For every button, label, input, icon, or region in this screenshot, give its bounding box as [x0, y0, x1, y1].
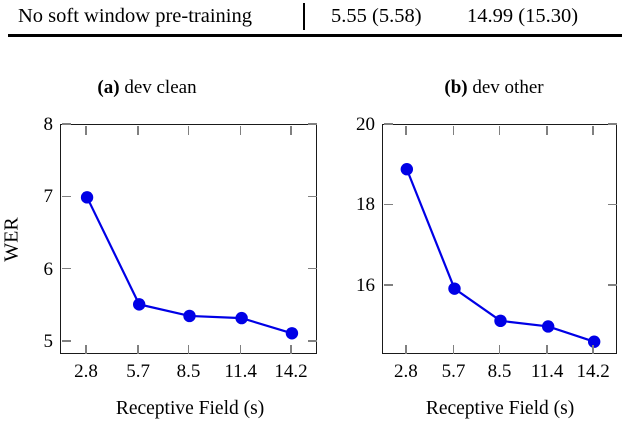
- subfigure-a-tag: (a): [97, 77, 119, 98]
- y-tick-mark-right: [308, 123, 317, 124]
- data-point-marker: [286, 327, 298, 339]
- subfigure-a-caption-text: dev clean: [120, 77, 197, 98]
- x-tick-mark: [499, 345, 500, 354]
- data-point-marker: [448, 282, 460, 294]
- y-tick-mark-right: [608, 284, 617, 285]
- table-cell-method: No soft window pre-training: [18, 2, 252, 30]
- y-tick-mark-right: [608, 123, 617, 124]
- table-cell-dev-other: 14.99 (15.30): [467, 2, 578, 30]
- data-point-marker: [133, 298, 145, 310]
- plot-area-dev-other: [382, 124, 617, 354]
- x-tick-mark: [137, 345, 138, 354]
- y-tick-label: 20: [320, 115, 375, 134]
- subfigure-dev-clean: (a) dev clean 5678 2.85.78.511.414.2 Rec…: [0, 60, 330, 422]
- x-tick-mark: [453, 345, 454, 354]
- subfigure-a-caption: (a) dev clean: [0, 77, 312, 99]
- x-axis-title-dev-other: Receptive Field (s): [330, 398, 630, 420]
- x-tick-mark-top: [592, 126, 593, 135]
- y-tick-mark: [62, 123, 71, 124]
- x-axis-title-dev-clean: Receptive Field (s): [0, 398, 380, 420]
- data-point-marker: [542, 320, 554, 332]
- y-tick-mark-right: [308, 268, 317, 269]
- subfigure-dev-other: (b) dev other 161820 2.85.78.511.414.2 R…: [330, 60, 630, 422]
- x-tick-label: 2.8: [58, 362, 114, 381]
- subfigure-b-caption: (b) dev other: [344, 77, 630, 99]
- x-tick-mark-top: [290, 126, 291, 135]
- y-tick-label: 5: [0, 332, 53, 351]
- y-tick-label: 7: [0, 187, 53, 206]
- subfigure-b-tag: (b): [444, 77, 467, 98]
- data-point-marker: [183, 310, 195, 322]
- x-tick-mark-top: [85, 126, 86, 135]
- x-tick-mark: [405, 345, 406, 354]
- x-tick-mark-top: [240, 126, 241, 135]
- y-axis-title-dev-clean: WER: [1, 210, 24, 270]
- x-tick-mark-top: [499, 126, 500, 135]
- x-tick-mark-top: [453, 126, 454, 135]
- table-fragment: No soft window pre-training 5.55 (5.58) …: [0, 0, 630, 40]
- x-tick-label: 14.2: [565, 362, 621, 381]
- y-tick-label: 8: [0, 115, 53, 134]
- data-point-marker: [588, 336, 600, 348]
- x-tick-mark: [592, 345, 593, 354]
- y-tick-mark: [384, 123, 393, 124]
- figure-area: (a) dev clean 5678 2.85.78.511.414.2 Rec…: [0, 60, 630, 422]
- x-tick-label: 5.7: [110, 362, 166, 381]
- plot-area-dev-clean: [60, 124, 317, 354]
- x-tick-mark: [546, 345, 547, 354]
- table-bottom-rule: [8, 34, 622, 37]
- y-tick-mark: [62, 268, 71, 269]
- x-tick-label: 8.5: [161, 362, 217, 381]
- table-column-divider: [303, 3, 305, 30]
- data-series-dev-clean: [61, 125, 318, 355]
- y-tick-mark-right: [308, 340, 317, 341]
- x-tick-mark-top: [546, 126, 547, 135]
- y-tick-mark: [384, 204, 393, 205]
- y-tick-mark: [384, 284, 393, 285]
- data-point-marker: [81, 191, 93, 203]
- x-tick-mark: [240, 345, 241, 354]
- data-series-dev-other: [383, 125, 618, 355]
- y-tick-mark-right: [608, 204, 617, 205]
- y-tick-mark-right: [308, 196, 317, 197]
- x-tick-mark-top: [137, 126, 138, 135]
- x-tick-mark-top: [405, 126, 406, 135]
- table-row: No soft window pre-training 5.55 (5.58) …: [0, 0, 630, 32]
- table-cell-dev-clean: 5.55 (5.58): [331, 2, 422, 30]
- x-tick-mark: [85, 345, 86, 354]
- data-point-marker: [235, 312, 247, 324]
- y-tick-mark: [62, 196, 71, 197]
- data-point-marker: [401, 163, 413, 175]
- x-tick-mark: [290, 345, 291, 354]
- y-tick-mark: [62, 340, 71, 341]
- y-tick-label: 16: [320, 276, 375, 295]
- subfigure-b-caption-text: dev other: [468, 77, 544, 98]
- x-tick-mark-top: [188, 126, 189, 135]
- y-tick-label: 18: [320, 195, 375, 214]
- x-tick-label: 11.4: [213, 362, 269, 381]
- x-tick-label: 14.2: [263, 362, 319, 381]
- x-tick-mark: [188, 345, 189, 354]
- data-point-marker: [494, 315, 506, 327]
